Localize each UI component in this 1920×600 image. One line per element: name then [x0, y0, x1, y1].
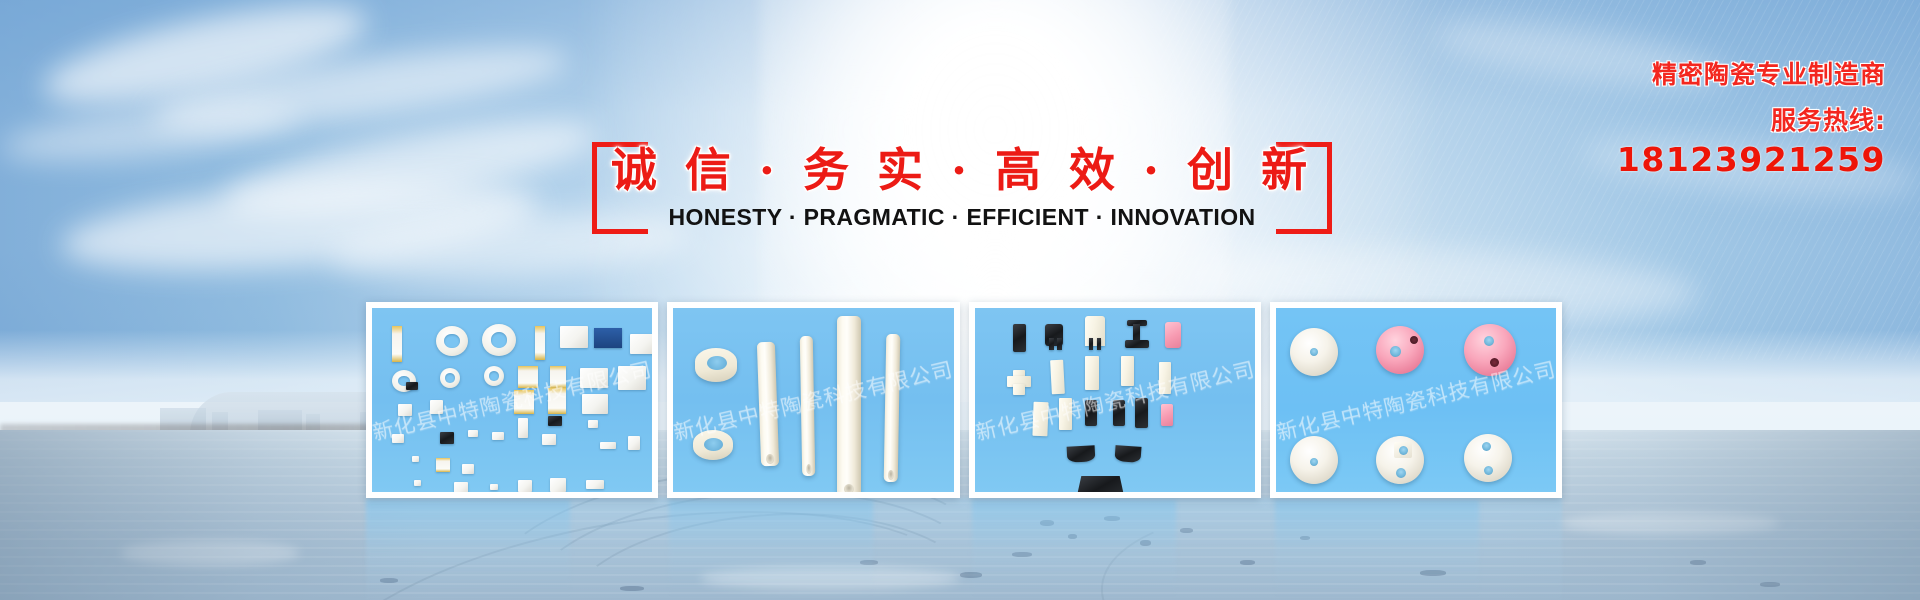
- product-panel-discs[interactable]: 新化县中特陶瓷科技有限公司: [1270, 302, 1562, 498]
- image-watermark: 新化县中特陶瓷科技有限公司: [372, 353, 652, 447]
- panel-reflection: [669, 500, 873, 596]
- panel-reflection: [1275, 500, 1479, 596]
- hotline-label: 服务热线:: [1617, 108, 1886, 133]
- panel-reflection: [366, 500, 570, 596]
- hotline-number[interactable]: 18123921259: [1617, 143, 1886, 176]
- product-panel-rods[interactable]: 新化县中特陶瓷科技有限公司: [667, 302, 959, 498]
- slogan-english: HONESTY · PRAGMATIC · EFFICIENT · INNOVA…: [592, 204, 1332, 231]
- slogan-chinese: 诚 信 · 务 实 · 高 效 · 创 新: [592, 134, 1332, 200]
- product-panel-chips[interactable]: 新化县中特陶瓷科技有限公司: [366, 302, 658, 498]
- panel-photo: 新化县中特陶瓷科技有限公司: [372, 308, 652, 492]
- panel-photo: 新化县中特陶瓷科技有限公司: [1276, 308, 1556, 492]
- panel-photo: 新化县中特陶瓷科技有限公司: [975, 308, 1255, 492]
- headline-block: 诚 信 · 务 实 · 高 效 · 创 新 HONESTY · PRAGMATI…: [592, 142, 1332, 242]
- hero-banner: 诚 信 · 务 实 · 高 效 · 创 新 HONESTY · PRAGMATI…: [0, 0, 1920, 600]
- product-panel-row: 新化县中特陶瓷科技有限公司 新化县中特陶瓷科技有限公司: [366, 302, 1562, 498]
- contact-block: 精密陶瓷专业制造商 服务热线: 18123921259: [1617, 62, 1886, 176]
- panel-reflection: [972, 500, 1176, 596]
- panel-photo: 新化县中特陶瓷科技有限公司: [673, 308, 953, 492]
- company-tagline: 精密陶瓷专业制造商: [1617, 62, 1886, 87]
- product-panel-structural[interactable]: 新化县中特陶瓷科技有限公司: [969, 302, 1261, 498]
- ground-shadow-right: [1500, 430, 1920, 600]
- cloud-wisp: [0, 94, 302, 171]
